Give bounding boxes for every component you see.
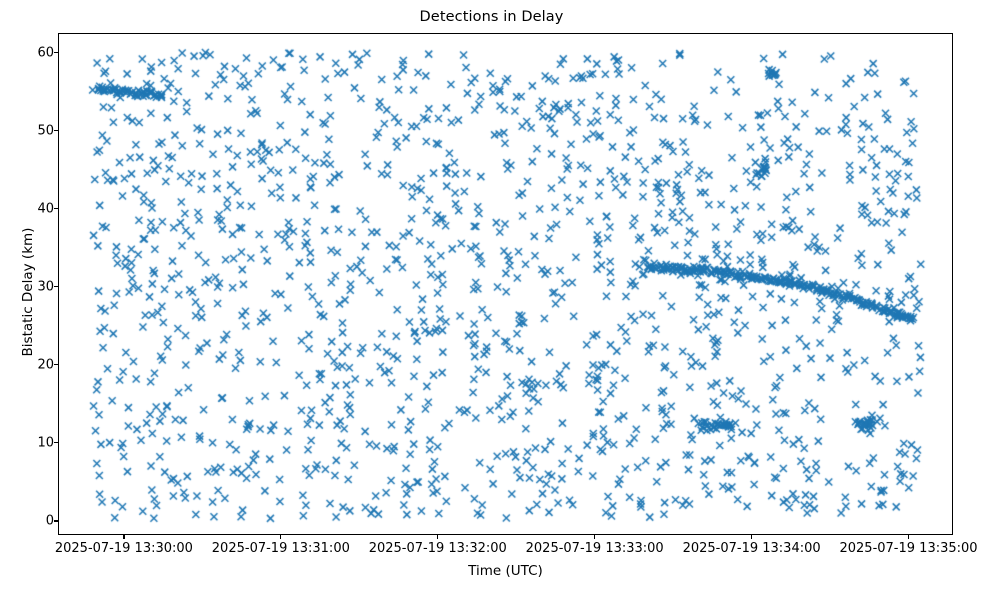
x-tick-label: 2025-07-19 13:32:00 (369, 541, 507, 556)
x-tick-label: 2025-07-19 13:33:00 (526, 541, 664, 556)
chart-figure: Detections in Delay 0102030405060 2025-0… (0, 0, 983, 590)
y-tick-mark (54, 52, 58, 53)
y-tick-mark (54, 286, 58, 287)
x-tick-mark (123, 535, 124, 539)
y-tick-label: 50 (6, 123, 54, 138)
y-tick-mark (54, 520, 58, 521)
y-tick-mark (54, 364, 58, 365)
x-tick-mark (437, 535, 438, 539)
y-tick-mark (54, 130, 58, 131)
y-tick-mark (54, 208, 58, 209)
x-axis-label: Time (UTC) (58, 563, 953, 579)
x-tick-label: 2025-07-19 13:31:00 (212, 541, 350, 556)
x-tick-label: 2025-07-19 13:34:00 (683, 541, 821, 556)
x-tick-mark (908, 535, 909, 539)
x-tick-label: 2025-07-19 13:30:00 (55, 541, 193, 556)
x-tick-label: 2025-07-19 13:35:00 (839, 541, 977, 556)
y-axis-label: Bistatic Delay (km) (20, 152, 36, 432)
x-tick-mark (594, 535, 595, 539)
y-tick-label: 10 (6, 435, 54, 450)
chart-title: Detections in Delay (0, 9, 983, 25)
x-tick-mark (280, 535, 281, 539)
x-tick-mark (751, 535, 752, 539)
y-tick-mark (54, 442, 58, 443)
plot-axes-frame (58, 33, 953, 535)
y-tick-label: 0 (6, 513, 54, 528)
y-tick-label: 60 (6, 45, 54, 60)
